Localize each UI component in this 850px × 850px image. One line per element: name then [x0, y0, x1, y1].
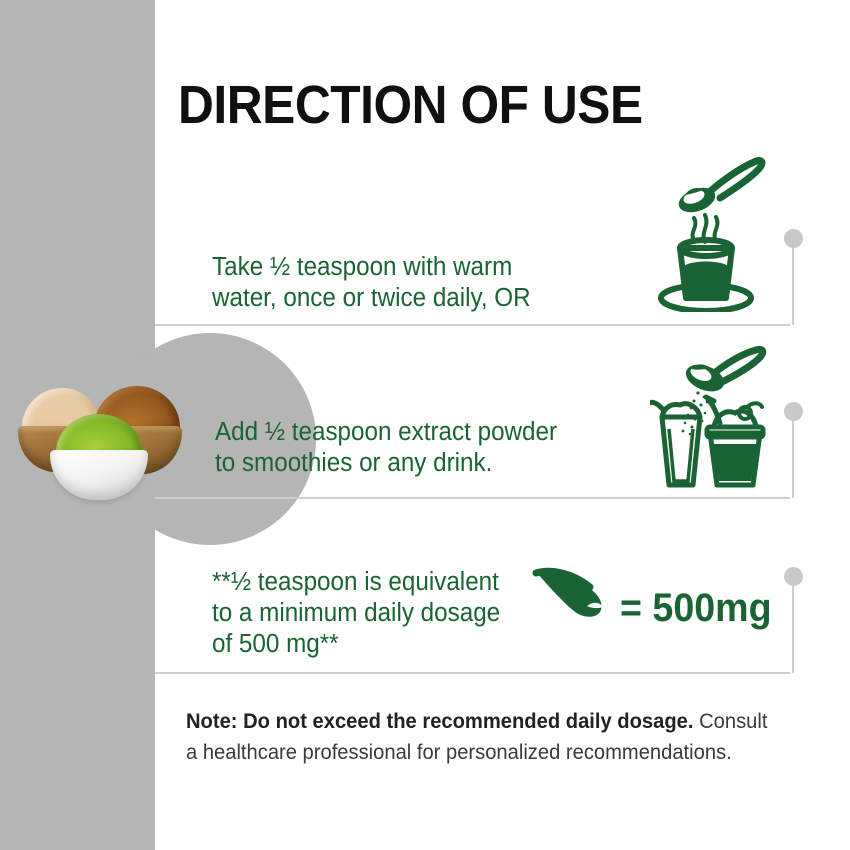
spoon-sprinkling-powder-into-smoothies-icon [650, 345, 800, 495]
step-1-bracket-dot [784, 229, 803, 248]
page-title: DIRECTION OF USE [178, 76, 643, 134]
equals-500mg-label: = 500mg [620, 588, 772, 628]
spoon-over-glass-of-warm-drink-icon [658, 152, 798, 312]
step-2-line-2: to smoothies or any drink. [215, 448, 557, 479]
step-2-divider [155, 497, 790, 499]
infographic-poster: DIRECTION OF USE Take ½ teaspoon with wa… [0, 0, 850, 850]
step-3-text: **½ teaspoon is equivalent to a minimum … [212, 567, 500, 660]
step-3-line-2: to a minimum daily dosage [212, 598, 500, 629]
step-2-text: Add ½ teaspoon extract powder to smoothi… [215, 417, 557, 479]
step-2-bracket-dot [784, 402, 803, 421]
step-3-bracket-dot [784, 567, 803, 586]
footer-note-bold: Note: Do not exceed the recommended dail… [186, 710, 693, 733]
spoon-sprinkling-powder-into-smoothies-svg [650, 345, 800, 495]
step-1-line-1: Take ½ teaspoon with warm [212, 252, 531, 283]
product-powder-bowls-image [8, 372, 198, 502]
step-3-line-3: of 500 mg** [212, 629, 500, 660]
step-2-bracket-stem [792, 420, 794, 498]
step-3-bracket-stem [792, 585, 794, 673]
white-bowl-green [50, 450, 148, 500]
step-3-divider [155, 672, 790, 674]
step-3-line-1: **½ teaspoon is equivalent [212, 567, 500, 598]
step-1-divider [155, 324, 790, 326]
footer-note: Note: Do not exceed the recommended dail… [186, 706, 781, 768]
spoon-over-glass-of-warm-drink-svg [658, 152, 798, 312]
step-2-line-1: Add ½ teaspoon extract powder [215, 417, 557, 448]
step-1-line-2: water, once or twice daily, OR [212, 283, 531, 314]
step-1-text: Take ½ teaspoon with warm water, once or… [212, 252, 531, 314]
step-1-bracket-stem [792, 247, 794, 325]
